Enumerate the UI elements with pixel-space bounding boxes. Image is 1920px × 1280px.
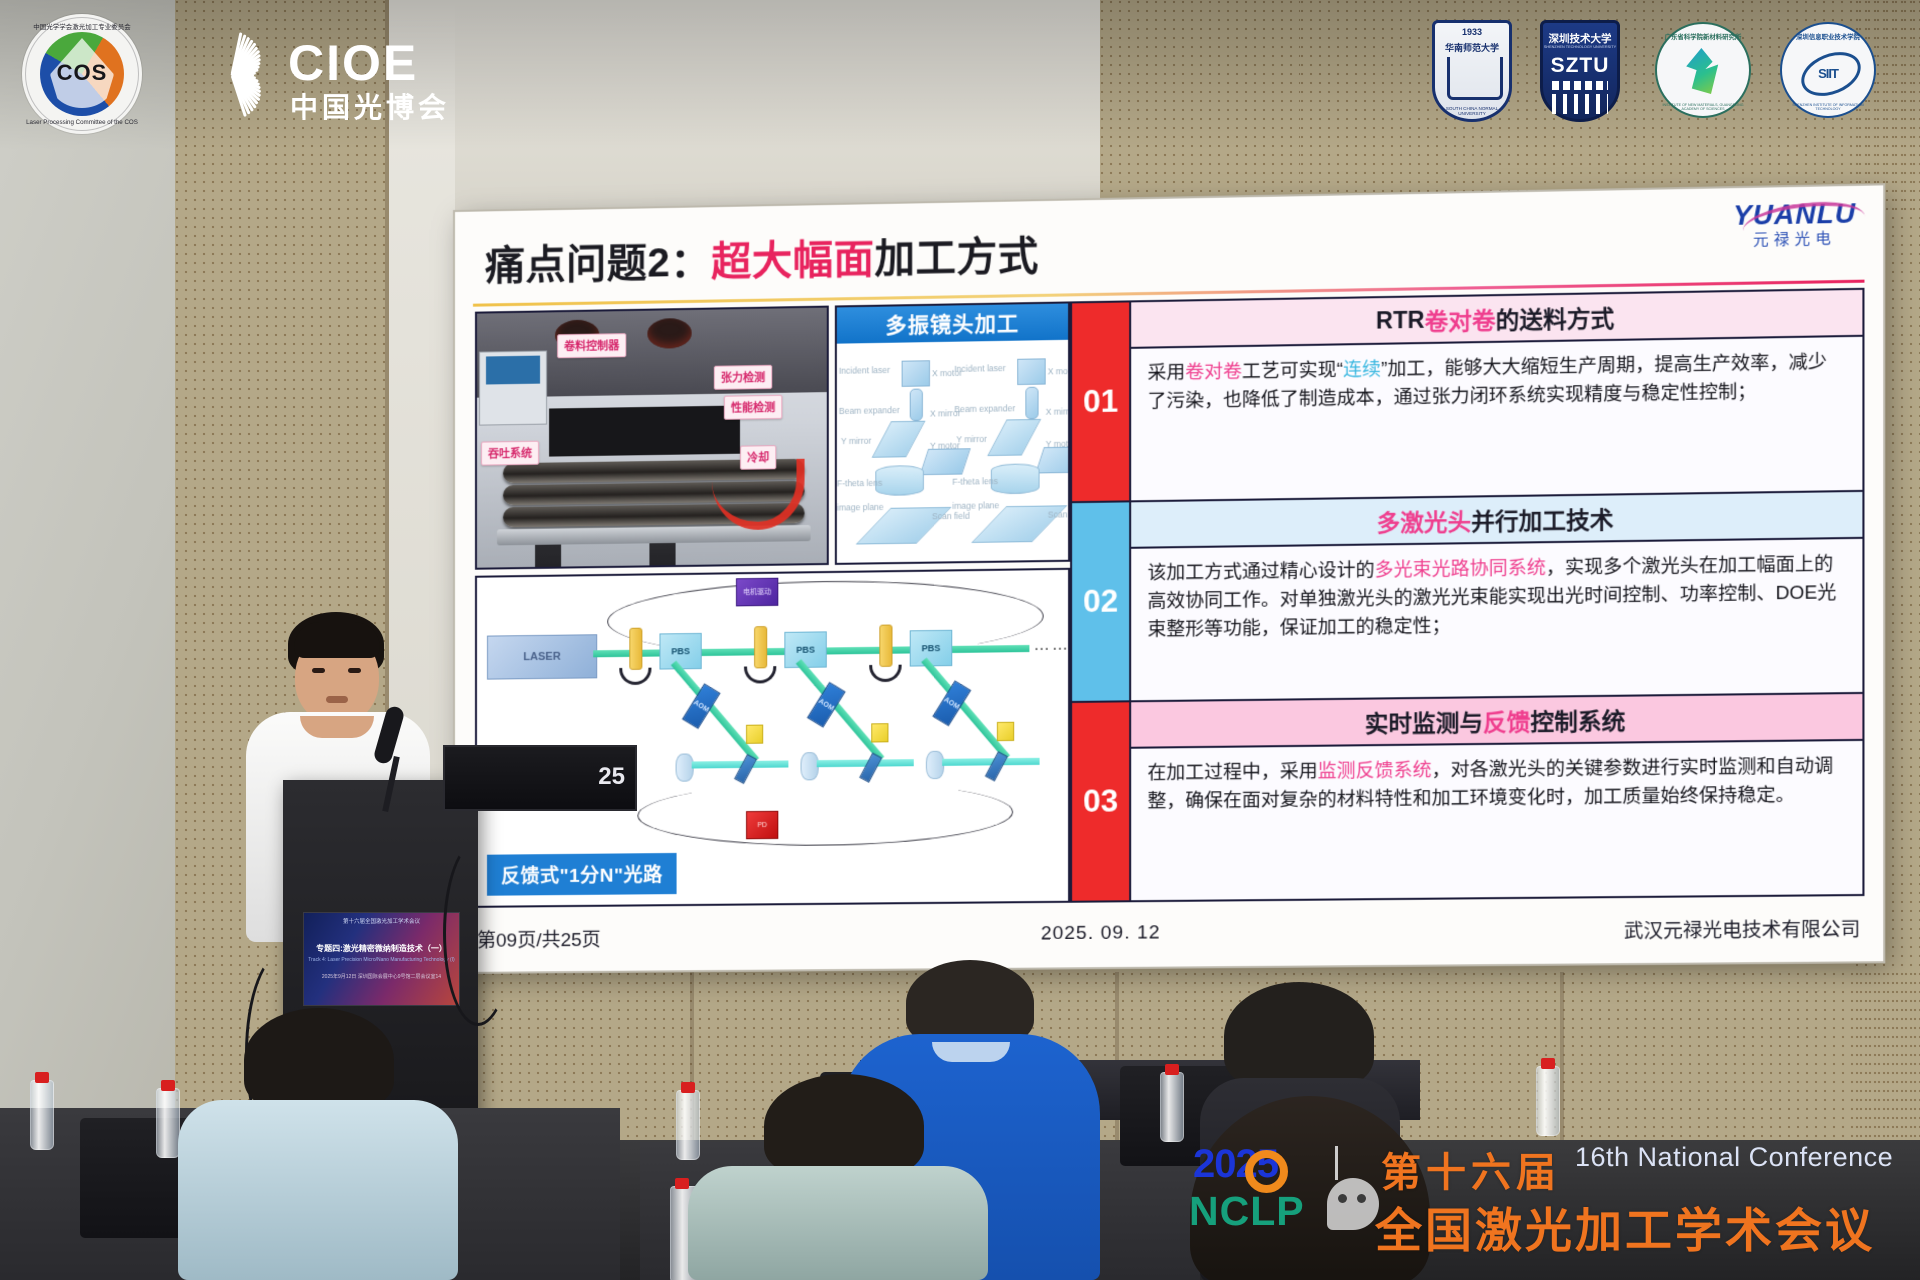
- speaker-fringe: [294, 622, 380, 658]
- cos-logo-text: COS: [22, 60, 142, 86]
- rotation-arrow-3: [869, 665, 901, 682]
- upper-row: 卷料控制器 张力检测 性能检测 吞吐系统 冷却 多振镜头加工 Incident …: [475, 301, 1070, 569]
- galvo-label-y-motor-r: Y motor: [1046, 439, 1070, 450]
- machine-control-screen: [486, 356, 540, 385]
- slide-title-highlight: 超大幅面: [711, 237, 874, 284]
- block-header-span: 的送料方式: [1496, 299, 1615, 336]
- rotation-arrow-1: [619, 668, 651, 685]
- scnu-name: 华南师范大学: [1435, 41, 1509, 54]
- wall-left-plaster: [0, 0, 175, 1150]
- slide-company: 武汉元禄光电技术有限公司: [1426, 914, 1860, 945]
- cioe-logo: CIOE 中国光博会: [196, 30, 466, 122]
- wall-seam-4: [1560, 972, 1564, 1152]
- photo-tag-roll-controller: 卷料控制器: [557, 333, 626, 358]
- gdinm-circle: 广东省科学院新材料研究所 INSTITUTE OF NEW MATERIALS,…: [1655, 22, 1751, 118]
- block-header-span: 卷对卷: [1425, 301, 1496, 337]
- text-block-03-header: 实时监测与反馈控制系统: [1131, 694, 1862, 749]
- beam-tap-3: [997, 722, 1014, 741]
- podium-display-info: 2025年9月12日 深圳国际会展中心9号馆二层会议室14: [304, 973, 459, 980]
- text-block-02: 多激光头并行加工技术 该加工方式通过精心设计的多光束光路协同系统，实现多个激光头…: [1131, 490, 1864, 700]
- cos-logo: 中国光学学会激光加工专业委员会 COS Laser Processing Com…: [22, 14, 142, 134]
- sztu-stripes-1: [1552, 81, 1608, 90]
- galvo-set-right: Incident laser Beam expander X motor X m…: [952, 346, 1068, 565]
- photo-tag-throughput-system: 吞吐系统: [481, 441, 539, 466]
- slide-title-suffix: 加工方式: [875, 234, 1039, 281]
- gdinm-name: 广东省科学院新材料研究所: [1657, 32, 1749, 41]
- podium-display-subtitle: Track 4: Laser Precision Micro/Nano Manu…: [304, 957, 459, 963]
- gdinm-wave-icon: [1683, 48, 1723, 94]
- audience-right-hair: [1224, 982, 1374, 1090]
- podium-monitor-number: 25: [598, 763, 625, 791]
- waveplate-3: [879, 625, 892, 667]
- podium-display-title: 专题四:激光精密微纳制造技术（一）: [304, 943, 459, 954]
- mirror-3: [985, 751, 1008, 781]
- podium-display-topline: 第十六届全国激光加工学术会议: [304, 917, 459, 925]
- speaker-eye-left: [312, 668, 325, 673]
- logo-scnu: 1933 华南师范大学 SOUTH CHINA NORMAL UNIVERSIT…: [1432, 20, 1512, 122]
- pbs-2: PBS: [784, 631, 826, 668]
- wall-white-strip-2: [455, 0, 1100, 215]
- photo-tag-cooling: 冷却: [740, 445, 776, 470]
- galvo-label-image-plane-r: image plane: [952, 500, 999, 511]
- slide-title-prefix: 痛点问题2：: [485, 240, 711, 288]
- feedback-loop-bottom: [637, 780, 1013, 847]
- block-body-span: 在加工过程中，采用: [1147, 760, 1317, 783]
- galvo-label-ftheta-l: F-theta lens: [837, 478, 882, 489]
- galvo-label-ftheta-r: F-theta lens: [952, 476, 998, 487]
- scnu-year: 1933: [1435, 27, 1509, 37]
- galvo-ftheta-lens-r: [991, 463, 1040, 494]
- machine-control-box: [479, 350, 547, 425]
- galvo-y-motor-r: [1035, 446, 1070, 473]
- siit-name: 深圳信息职业技术学院: [1782, 32, 1874, 41]
- yuanlu-logo: YUANLU 元禄光电: [1733, 200, 1856, 248]
- speaker-neck: [300, 716, 374, 738]
- pbs-3: PBS: [910, 630, 953, 667]
- cioe-fan-icon: [196, 34, 276, 118]
- podium-display: 第十六届全国激光加工学术会议 专题四:激光精密微纳制造技术（一） Track 4…: [303, 912, 460, 1006]
- sztu-en: SHENZHEN TECHNOLOGY UNIVERSITY: [1543, 45, 1617, 49]
- slide-page-number: 第09页/共25页: [477, 923, 778, 952]
- galvo-y-mirror-r: [987, 419, 1041, 456]
- scnu-arch-icon: [1447, 57, 1503, 100]
- block-header-span: 实时监测与: [1365, 703, 1483, 739]
- slide-title: 痛点问题2：超大幅面加工方式: [485, 223, 1039, 291]
- slide-content: 卷料控制器 张力检测 性能检测 吞吐系统 冷却 多振镜头加工 Incident …: [475, 288, 1864, 908]
- block-body-span: 多光束光路协同系统: [1375, 556, 1546, 580]
- audience-long-hair: [1190, 1096, 1430, 1280]
- block-header-span: 反馈: [1483, 703, 1530, 738]
- audience-fl-hair: [244, 1008, 394, 1112]
- waveplate-2: [754, 626, 767, 668]
- motor-driver-box: 电机驱动: [736, 578, 778, 607]
- beam-tap-1: [746, 725, 763, 744]
- machine-dark-window: [549, 406, 740, 457]
- block-header-span: RTR: [1376, 306, 1425, 334]
- audience-fm-hair: [764, 1074, 924, 1178]
- audience-person-long-hair: [1160, 1096, 1460, 1280]
- beam-tap-2: [871, 723, 888, 742]
- text-blocks-column: RTR卷对卷的送料方式 采用卷对卷工艺可实现“连续”加工，能够大大缩短生产周期，…: [1131, 288, 1864, 902]
- projection-screen: 痛点问题2：超大幅面加工方式 YUANLU 元禄光电: [455, 185, 1883, 972]
- galvo-label-y-mirror-r: Y mirror: [956, 434, 987, 445]
- slide-date: 2025. 09. 12: [778, 920, 1426, 947]
- slide-footer: 第09页/共25页 2025. 09. 12 武汉元禄光电技术有限公司: [477, 910, 1860, 955]
- scnu-shield: 1933 华南师范大学 SOUTH CHINA NORMAL UNIVERSIT…: [1432, 20, 1512, 122]
- branch-beam-3: [921, 658, 1010, 760]
- cioe-logo-latin: CIOE: [288, 34, 418, 92]
- laser-source: LASER: [487, 634, 597, 679]
- podium-cable-right: [443, 840, 513, 1026]
- galvo-label-image-plane-l: image plane: [837, 502, 884, 513]
- galvo-label-x-motor-r: X motor: [1048, 366, 1070, 377]
- galvo-label-incident-laser-r: Incident laser: [954, 363, 1005, 374]
- galvo-x-shaft-r: [1025, 387, 1038, 419]
- slide: 痛点问题2：超大幅面加工方式 YUANLU 元禄光电: [455, 185, 1883, 972]
- water-bottle-1: [30, 1080, 54, 1150]
- pbs-1: PBS: [659, 633, 701, 670]
- logo-siit: 深圳信息职业技术学院 SIIT SHENZHEN INSTITUTE OF IN…: [1780, 22, 1876, 118]
- block-body-span: 卷对卷: [1185, 360, 1242, 382]
- step-number-column: 01 02 03: [1070, 300, 1131, 902]
- galvo-label-beam-expander-r: Beam expander: [954, 403, 1015, 414]
- water-bottle-2: [156, 1088, 180, 1158]
- block-body-span: 采用: [1147, 361, 1185, 383]
- galvo-diagram-panel: 多振镜头加工 Incident laser Beam expander X mo…: [835, 301, 1070, 564]
- galvo-ftheta-lens-l: [875, 465, 924, 496]
- scnu-en: SOUTH CHINA NORMAL UNIVERSITY: [1435, 106, 1509, 116]
- photo-tag-tension-sensor: 张力检测: [714, 365, 772, 390]
- sztu-name: 深圳技术大学: [1543, 31, 1617, 46]
- block-body-span: 工艺可实现: [1242, 359, 1337, 382]
- machine-photo-panel: 卷料控制器 张力检测 性能检测 吞吐系统 冷却: [475, 306, 829, 570]
- wall-perforated-panel-4: [1100, 0, 1300, 215]
- machine-leg-1: [535, 545, 561, 570]
- waveplate-1: [629, 628, 642, 670]
- rotation-arrow-2: [744, 666, 776, 683]
- logo-gdinm: 广东省科学院新材料研究所 INSTITUTE OF NEW MATERIALS,…: [1655, 22, 1751, 118]
- galvo-y-mirror-l: [872, 421, 926, 458]
- siit-circle: 深圳信息职业技术学院 SIIT SHENZHEN INSTITUTE OF IN…: [1780, 22, 1876, 118]
- machine-leg-2: [649, 543, 675, 570]
- photodetector-box: PD: [746, 811, 778, 839]
- siit-en: SHENZHEN INSTITUTE OF INFORMATION TECHNO…: [1782, 103, 1874, 111]
- text-block-02-body: 该加工方式通过精心设计的多光束光路协同系统，实现多个激光头在加工幅面上的高效协同…: [1131, 539, 1862, 700]
- sztu-shield: 深圳技术大学 SHENZHEN TECHNOLOGY UNIVERSITY SZ…: [1540, 20, 1620, 122]
- cos-ring-bottom-text: Laser Processing Committee of the COS: [22, 119, 142, 126]
- photo-tag-performance-sensor: 性能检测: [724, 395, 782, 420]
- audience-fm-shirt: [688, 1166, 988, 1280]
- left-column: 卷料控制器 张力检测 性能检测 吞吐系统 冷却 多振镜头加工 Incident …: [475, 301, 1070, 907]
- galvo-label-beam-expander-l: Beam expander: [839, 405, 900, 416]
- galvo-diagram: Incident laser Beam expander X motor X m…: [837, 340, 1068, 563]
- block-header-span: 并行加工技术: [1471, 501, 1613, 538]
- mirror-2: [859, 753, 882, 783]
- text-block-03: 实时监测与反馈控制系统 在加工过程中，采用监测反馈系统，对各激光头的关键参数进行…: [1131, 692, 1864, 902]
- audience-fl-shirt: [178, 1100, 458, 1280]
- cos-ring-top-text: 中国光学学会激光加工专业委员会: [22, 21, 142, 31]
- speaker-mouth: [326, 696, 348, 703]
- block-header-span: 控制系统: [1530, 702, 1625, 738]
- block-header-span: 多激光头: [1377, 503, 1472, 539]
- galvo-label-incident-laser-l: Incident laser: [839, 365, 890, 376]
- block-body-span: 该加工方式通过精心设计的: [1147, 559, 1374, 583]
- speaker-eye-right: [348, 668, 361, 673]
- audience-person-front-left: [178, 1008, 458, 1280]
- step-number-02: 02: [1070, 500, 1131, 701]
- galvo-x-motor-box-r: [1017, 358, 1045, 385]
- audience-person-front-mid: [688, 1074, 988, 1280]
- text-block-03-body: 在加工过程中，采用监测反馈系统，对各激光头的关键参数进行实时监测和自动调整，确保…: [1131, 741, 1862, 900]
- siit-abbr: SIIT: [1782, 66, 1874, 81]
- mirror-1: [734, 754, 757, 784]
- galvo-panel-header: 多振镜头加工: [837, 303, 1068, 343]
- galvo-set-left: Incident laser Beam expander X motor X m…: [837, 348, 952, 565]
- galvo-x-motor-box-l: [902, 360, 930, 387]
- block-body-span: 连续: [1343, 358, 1381, 380]
- logo-sztu: 深圳技术大学 SHENZHEN TECHNOLOGY UNIVERSITY SZ…: [1540, 20, 1620, 122]
- galvo-label-x-mirror-r: X mirror: [1046, 406, 1070, 417]
- sztu-stripes-2: [1552, 94, 1608, 114]
- step-number-01: 01: [1070, 300, 1131, 501]
- sztu-abbr: SZTU: [1543, 54, 1617, 78]
- podium-monitor: 25: [443, 745, 637, 811]
- optics-diagram-panel: 电机驱动 PD LASER …… PBS AOM PBS: [475, 568, 1070, 908]
- text-block-01-body: 采用卷对卷工艺可实现“连续”加工，能够大大缩短生产周期，提高生产效率，减少了污染…: [1131, 337, 1862, 501]
- beam-continuation-ellipsis: ……: [1033, 636, 1070, 655]
- galvo-label-y-mirror-l: Y mirror: [841, 436, 871, 447]
- gdinm-en: INSTITUTE OF NEW MATERIALS, GUANGDONG AC…: [1657, 103, 1749, 111]
- conference-photo-scene: 中国光学学会激光加工专业委员会 COS Laser Processing Com…: [0, 0, 1920, 1280]
- galvo-label-scan-field-r: Scan field: [1048, 509, 1070, 520]
- galvo-x-shaft-l: [910, 389, 923, 421]
- text-block-01: RTR卷对卷的送料方式 采用卷对卷工艺可实现“连续”加工，能够大大缩短生产周期，…: [1131, 288, 1864, 501]
- step-number-03: 03: [1070, 700, 1131, 902]
- cioe-logo-chinese: 中国光博会: [290, 86, 450, 126]
- audience-blue-collar: [932, 1042, 1010, 1062]
- block-body-span: 监测反馈系统: [1318, 759, 1432, 781]
- water-bottle-5: [1536, 1066, 1560, 1136]
- optics-panel-label: 反馈式"1分N"光路: [487, 853, 677, 896]
